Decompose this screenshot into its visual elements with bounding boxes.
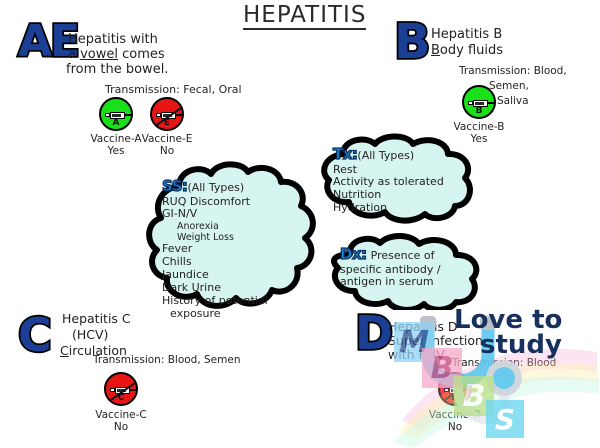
infographic-canvas: HEPATITIS AE Hepatitis with a vowel come… xyxy=(0,0,600,448)
hepatitis-b-line2: Body fluids xyxy=(431,44,503,59)
vaccine-d-icon: D xyxy=(438,372,472,406)
symptom-item: Dark Urine xyxy=(162,282,312,295)
symptoms-header: SS:(All Types) xyxy=(162,178,312,196)
tx-note: (All Types) xyxy=(357,149,414,162)
hepatitis-c-line1: Hepatitis C xyxy=(62,312,131,326)
hepatitis-d-letter: D xyxy=(355,310,391,356)
vaccine-e-label: Vaccine-E No xyxy=(127,133,207,158)
vaccine-c-name: Vaccine-C xyxy=(81,409,161,421)
hepatitis-d-line3: with HBV xyxy=(388,348,445,362)
symptoms-cloud: SS:(All Types) RUQ Discomfort GI-N/V Ano… xyxy=(145,160,320,315)
hepatitis-d-line1: Hepatitis D xyxy=(388,320,458,334)
treatment-item: Hydration xyxy=(333,202,473,215)
vaccine-c-label: Vaccine-C No xyxy=(81,409,161,434)
c-line3-initial: C xyxy=(60,343,69,358)
tx-abbrev: Tx: xyxy=(333,145,357,163)
dx-line3: antigen in serum xyxy=(340,276,486,289)
hepatitis-ae-transmission: Transmission: Fecal, Oral xyxy=(105,84,242,96)
hepatitis-c-letter: C xyxy=(18,312,50,358)
hepatitis-b-letter: B xyxy=(394,18,429,66)
ae-line2-vowel: vowel xyxy=(80,47,118,62)
hepatitis-b-transmission-1: Transmission: Blood, xyxy=(459,66,567,78)
vaccine-e-icon: E xyxy=(150,97,184,131)
ss-note: (All Types) xyxy=(187,181,244,194)
hepatitis-c-transmission: Transmission: Blood, Semen xyxy=(93,355,240,367)
vaccine-b-icon: B xyxy=(462,85,496,119)
treatment-cloud: Tx:(All Types) Rest Activity as tolerate… xyxy=(313,132,478,224)
ae-line2-a: a xyxy=(68,47,80,62)
hepatitis-d-transmission: Transmission: Blood xyxy=(452,358,556,370)
hepatitis-c-line2: (HCV) xyxy=(72,328,108,342)
vaccine-a-letter: A xyxy=(101,118,131,128)
symptom-item: History of potential xyxy=(162,295,312,308)
treatment-text: Tx:(All Types) Rest Activity as tolerate… xyxy=(333,146,473,215)
vaccine-e-answer: No xyxy=(127,145,207,157)
hepatitis-d-line2: Super infection xyxy=(388,334,483,348)
vaccine-d-answer: No xyxy=(415,421,495,433)
hepatitis-ae-line3: from the bowel. xyxy=(66,63,168,78)
watermark-letter: S xyxy=(495,403,515,436)
symptom-item: GI-N/V xyxy=(162,208,312,221)
dx-abbrev: Dx: xyxy=(340,245,367,263)
treatment-header: Tx:(All Types) xyxy=(333,146,473,164)
vaccine-a-icon: A xyxy=(99,97,133,131)
symptom-subitem: Anorexia xyxy=(162,221,312,232)
vaccine-e-name: Vaccine-E xyxy=(127,133,207,145)
b-line2-initial: B xyxy=(431,43,440,58)
page-title: HEPATITIS xyxy=(243,2,366,30)
hepatitis-b-transmission-2: Semen, xyxy=(489,81,529,93)
vaccine-d-label: Vaccine-D No xyxy=(415,409,495,434)
hepatitis-b-line1: Hepatitis B xyxy=(431,28,502,43)
vaccine-b-letter: B xyxy=(464,106,494,116)
diagnosis-cloud: Dx:Presence of specific antibody / antig… xyxy=(320,232,490,310)
b-line2-rest: ody fluids xyxy=(440,43,503,58)
vaccine-d-name: Vaccine-D xyxy=(415,409,495,421)
hepatitis-ae-line1: Hepatitis with xyxy=(68,33,158,48)
symptoms-text: SS:(All Types) RUQ Discomfort GI-N/V Ano… xyxy=(162,178,312,321)
vaccine-c-icon: C xyxy=(104,372,138,406)
ss-abbrev: SS: xyxy=(162,177,187,195)
diagnosis-header-row: Dx:Presence of xyxy=(340,246,486,264)
symptom-item-wrap: exposure xyxy=(162,308,312,321)
hepatitis-ae-line2: a vowel comes xyxy=(68,48,165,63)
hepatitis-b-transmission-3: Saliva xyxy=(497,96,529,108)
diagnosis-text: Dx:Presence of specific antibody / antig… xyxy=(340,246,486,289)
ae-line2-c: comes xyxy=(118,47,165,62)
dx-line1: Presence of xyxy=(367,249,435,262)
vaccine-c-answer: No xyxy=(81,421,161,433)
